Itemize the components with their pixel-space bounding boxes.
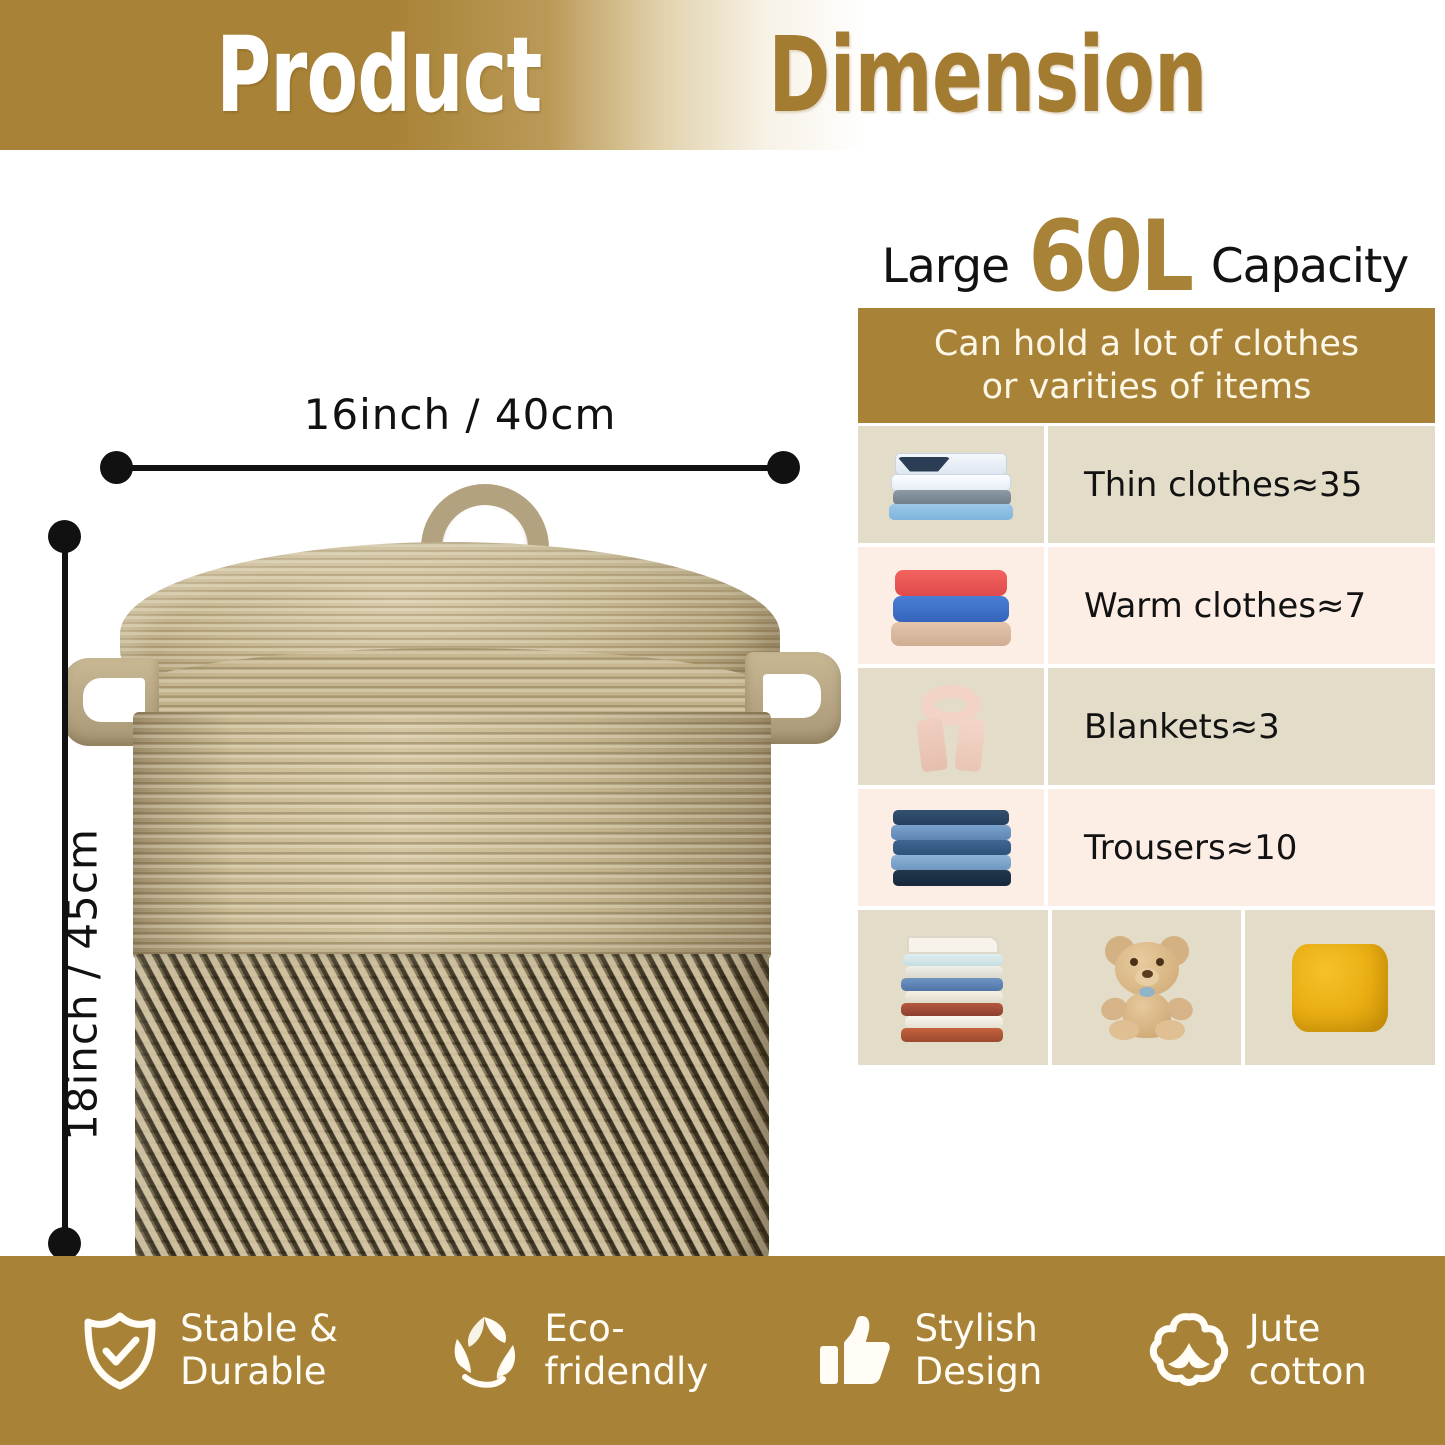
yellow-pillow-icon [1245, 910, 1435, 1065]
teddy-bear-icon [1052, 910, 1246, 1065]
feature-stable-durable: Stable & Durable [78, 1308, 338, 1394]
thin-clothes-icon [858, 426, 1048, 543]
table-row: Warm clothes≈7 [858, 547, 1435, 668]
thumbs-up-icon [813, 1309, 897, 1393]
table-cell-label: Warm clothes≈7 [1048, 547, 1435, 664]
table-cell-label: Thin clothes≈35 [1048, 426, 1435, 543]
warm-clothes-icon [858, 547, 1048, 664]
capacity-banner-line2: or varities of items [982, 366, 1312, 409]
product-dimension-panel: 16inch / 40cm 18inch / 45cm [0, 150, 840, 1255]
trousers-icon [858, 789, 1048, 906]
product-infographic: Product Dimension 16inch / 40cm 18inch /… [0, 0, 1445, 1445]
capacity-panel: Large 60L Capacity Can hold a lot of clo… [845, 150, 1445, 1255]
height-dimension-dot-top [48, 520, 81, 553]
features-bar: Stable & Durable Eco- fridendly [0, 1256, 1445, 1445]
width-dimension-dot-left [100, 451, 133, 484]
width-dimension-line [118, 465, 784, 471]
feature-label: Eco- fridendly [544, 1308, 708, 1394]
table-cell-label: Blankets≈3 [1048, 668, 1435, 785]
header-banner: Product Dimension [0, 0, 1445, 150]
capacity-banner-line1: Can hold a lot of clothes [934, 323, 1359, 366]
feature-stylish-design: Stylish Design [813, 1308, 1043, 1394]
header-title-dimension: Dimension [768, 23, 1206, 127]
width-dimension-dot-right [767, 451, 800, 484]
capacity-banner: Can hold a lot of clothes or varities of… [858, 308, 1435, 423]
stack-of-books-icon [858, 910, 1052, 1065]
height-dimension-label: 18inch / 45cm [58, 775, 107, 1195]
blanket-scarf-icon [858, 668, 1048, 785]
shield-check-icon [78, 1309, 162, 1393]
capacity-headline: Large 60L Capacity [845, 192, 1445, 302]
table-row: Trousers≈10 [858, 789, 1435, 910]
table-cell-label: Trousers≈10 [1048, 789, 1435, 906]
feature-jute-cotton: Jute cotton [1147, 1308, 1367, 1394]
capacity-prefix: Large [882, 239, 1009, 302]
feature-label: Stable & Durable [180, 1308, 338, 1394]
feature-eco-friendly: Eco- fridendly [442, 1308, 708, 1394]
table-row-extras [858, 910, 1435, 1065]
basket-body-upper-band [133, 712, 771, 960]
width-dimension-label: 16inch / 40cm [250, 390, 670, 439]
feature-label: Stylish Design [915, 1308, 1043, 1394]
feature-label: Jute cotton [1249, 1308, 1367, 1394]
basket-body-woven-lower [135, 954, 769, 1306]
cotton-boll-icon [1147, 1309, 1231, 1393]
capacity-volume: 60L [1028, 212, 1191, 302]
table-row: Thin clothes≈35 [858, 426, 1435, 547]
capacity-suffix: Capacity [1211, 239, 1408, 302]
table-row: Blankets≈3 [858, 668, 1435, 789]
recycle-leaves-icon [442, 1309, 526, 1393]
header-title-product: Product [216, 23, 541, 127]
basket-product-image [55, 480, 845, 1310]
capacity-table: Thin clothes≈35 Warm clothes≈7 [858, 426, 1435, 1065]
